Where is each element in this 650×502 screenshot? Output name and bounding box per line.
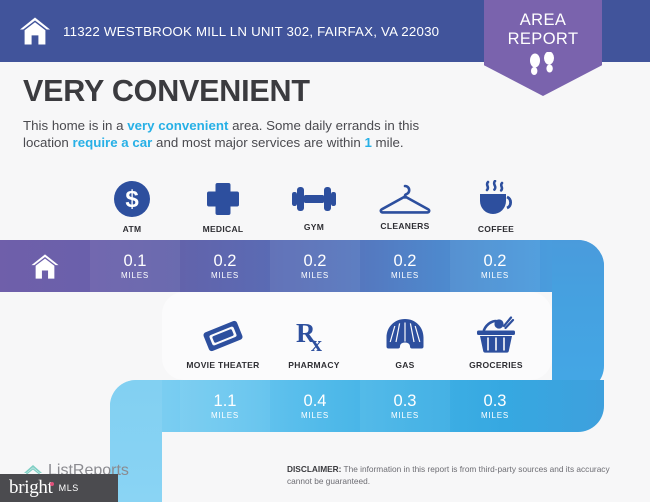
summary-part-3: and most major services are within	[152, 135, 364, 150]
distance-pharmacy: 0.4 MILES	[270, 380, 360, 432]
summary-highlight-2: require a car	[73, 135, 153, 150]
area-report-page: 11322 WESTBROOK MILL LN UNIT 302, FAIRFA…	[0, 0, 650, 502]
house-icon	[30, 253, 60, 280]
poi-pharmacy[interactable]: R x PHARMACY	[269, 318, 359, 370]
distance-unit: MILES	[121, 271, 149, 280]
distance-value: 1.1	[214, 392, 237, 410]
poi-coffee[interactable]: COFFEE	[451, 180, 541, 234]
coffee-cup-icon	[474, 180, 518, 218]
poi-gas[interactable]: GAS	[360, 318, 450, 370]
poi-label: CLEANERS	[360, 221, 450, 231]
badge-line-1: AREA	[484, 11, 602, 30]
poi-medical[interactable]: MEDICAL	[178, 180, 268, 234]
poi-atm[interactable]: $ ATM	[87, 180, 177, 234]
disclaimer: DISCLAIMER: The information in this repo…	[287, 464, 627, 487]
poi-label: MOVIE THEATER	[178, 360, 268, 370]
medical-cross-icon	[204, 180, 242, 218]
pharmacy-rx-icon: R x	[294, 318, 334, 354]
distance-unit: MILES	[211, 411, 239, 420]
distance-gas: 0.3 MILES	[360, 380, 450, 432]
distance-unit: MILES	[211, 271, 239, 280]
groceries-basket-icon	[475, 316, 517, 354]
poi-cleaners[interactable]: CLEANERS	[360, 183, 450, 231]
poi-gym[interactable]: GYM	[269, 182, 359, 232]
svg-text:x: x	[311, 331, 322, 354]
distance-cleaners: 0.2 MILES	[360, 240, 450, 292]
row-1-home-marker	[0, 240, 90, 292]
distance-unit: MILES	[301, 411, 329, 420]
poi-label: GAS	[360, 360, 450, 370]
poi-movie-theater[interactable]: MOVIE THEATER	[178, 318, 268, 370]
poi-label: GYM	[269, 222, 359, 232]
poi-label: PHARMACY	[269, 360, 359, 370]
distance-value: 0.2	[304, 252, 327, 270]
page-title: VERY CONVENIENT	[23, 74, 310, 109]
poi-label: ATM	[87, 224, 177, 234]
distance-unit: MILES	[391, 271, 419, 280]
distance-groceries: 0.3 MILES	[450, 380, 540, 432]
summary-part-4: mile.	[372, 135, 404, 150]
distance-value: 0.3	[484, 392, 507, 410]
summary-part-1: This home is in a	[23, 118, 127, 133]
badge-line-2: REPORT	[484, 30, 602, 49]
atm-dollar-icon: $	[113, 180, 151, 218]
distance-atm: 0.1 MILES	[90, 240, 180, 292]
poi-label: GROCERIES	[451, 360, 541, 370]
bright-mls-badge: bright MLS	[0, 474, 118, 502]
distance-gym: 0.2 MILES	[270, 240, 360, 292]
distance-value: 0.4	[304, 392, 327, 410]
distance-movie-theater: 1.1 MILES	[180, 380, 270, 432]
gym-dumbbell-icon	[292, 182, 336, 216]
summary-text: This home is in a very convenient area. …	[23, 118, 463, 151]
cleaners-hanger-icon	[379, 183, 431, 215]
bright-dot-icon	[50, 482, 54, 486]
summary-highlight-1: very convenient	[127, 118, 228, 133]
poi-label: MEDICAL	[178, 224, 268, 234]
svg-text:$: $	[125, 186, 139, 213]
bright-label: bright	[9, 477, 53, 499]
gas-shell-icon	[385, 318, 425, 354]
summary-highlight-3: 1	[364, 135, 371, 150]
distance-value: 0.1	[124, 252, 147, 270]
distance-value: 0.2	[394, 252, 417, 270]
area-report-badge: AREA REPORT	[484, 0, 602, 96]
distance-value: 0.2	[484, 252, 507, 270]
distance-ribbon-right-connector	[552, 240, 604, 392]
distance-medical: 0.2 MILES	[180, 240, 270, 292]
distance-unit: MILES	[481, 411, 509, 420]
distance-value: 0.2	[214, 252, 237, 270]
bright-mls-label: MLS	[59, 483, 79, 493]
footprints-icon	[523, 52, 563, 78]
distance-unit: MILES	[481, 271, 509, 280]
house-icon	[19, 16, 51, 46]
disclaimer-label: DISCLAIMER:	[287, 464, 341, 474]
distance-value: 0.3	[394, 392, 417, 410]
movie-ticket-icon	[202, 318, 244, 354]
distance-coffee: 0.2 MILES	[450, 240, 540, 292]
distance-unit: MILES	[301, 271, 329, 280]
property-address: 11322 WESTBROOK MILL LN UNIT 302, FAIRFA…	[63, 24, 439, 39]
distance-unit: MILES	[391, 411, 419, 420]
poi-groceries[interactable]: GROCERIES	[451, 316, 541, 370]
poi-label: COFFEE	[451, 224, 541, 234]
